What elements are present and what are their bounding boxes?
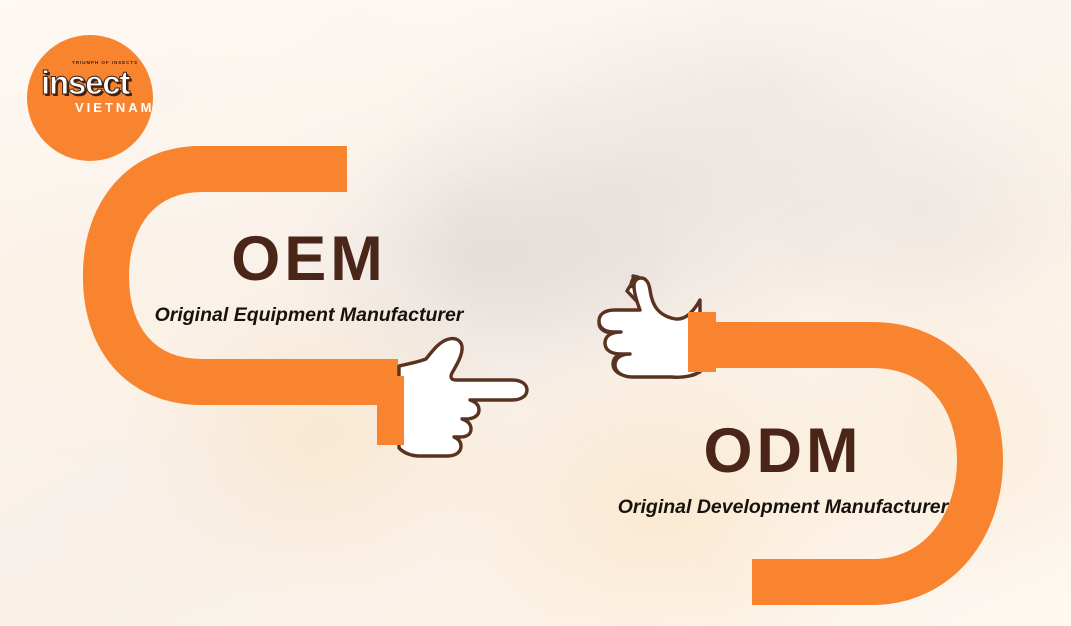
logo-wordmark: insect xyxy=(41,66,129,99)
oem-headline: OEM xyxy=(150,228,468,291)
odm-headline: ODM xyxy=(614,420,952,483)
poster-canvas: TRIUMPH OF INSECTS insect VIETNAM OEM Or… xyxy=(0,0,1071,626)
oem-subtitle: Original Equipment Manufacturer xyxy=(150,304,468,327)
pointing-hand-cuff xyxy=(377,376,404,445)
odm-subtitle: Original Development Manufacturer xyxy=(614,496,952,519)
oem-text-block: OEM Original Equipment Manufacturer xyxy=(150,228,468,327)
odm-text-block: ODM Original Development Manufacturer xyxy=(614,420,952,519)
pointing-right-hand-icon xyxy=(377,339,527,456)
logo-subtext: VIETNAM xyxy=(75,101,153,114)
thumbs-up-hand-icon xyxy=(599,276,716,377)
thumbs-up-cuff xyxy=(688,312,716,372)
insect-vietnam-logo[interactable]: TRIUMPH OF INSECTS insect VIETNAM xyxy=(27,35,153,161)
